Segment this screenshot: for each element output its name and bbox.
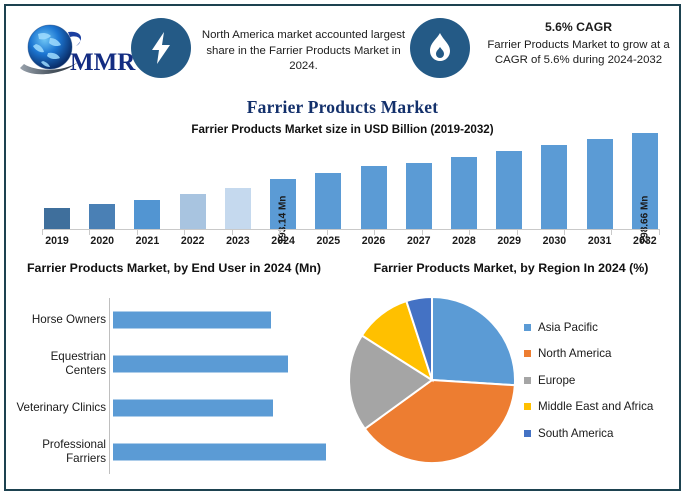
end-user-bar-professional-farriers [113,444,326,461]
end-user-track [112,298,336,342]
x-label-2031: 2031 [585,235,615,247]
market-size-chart: Farrier Products Market Farrier Products… [6,92,679,256]
bar-2029 [496,151,522,229]
bar-group-2019 [42,208,72,229]
x-label-2023: 2023 [223,235,253,247]
bar-group-2028 [449,157,479,229]
bar-group-2030 [539,145,569,229]
x-label-2021: 2021 [132,235,162,247]
page-title: Farrier Products Market [6,97,679,118]
logo-text: MMR [70,49,136,76]
header-bar: MMR North America market accounted large… [6,6,679,92]
legend-label: Asia Pacific [538,321,598,334]
legend-label: South America [538,427,613,440]
legend-swatch-icon [524,350,531,357]
x-label-2032: 2032 [630,235,660,247]
end-user-chart-title: Farrier Products Market, by End User in … [12,260,336,276]
bar-2031 [587,139,613,229]
flame-icon [410,18,470,78]
end-user-row: Equestrian Centers [16,342,336,386]
cagr-description: Farrier Products Market to grow at a CAG… [487,39,669,67]
bar-2022 [180,194,206,229]
end-user-label-equestrian-centers: Equestrian Centers [16,350,112,378]
bar-group-2023 [223,188,253,229]
chart-subtitle: Farrier Products Market size in USD Bill… [6,123,679,136]
legend-label: Europe [538,374,575,387]
bar-2026 [361,166,387,229]
end-user-row: Horse Owners [16,298,336,342]
bar-group-2024: 193.14 Mn [268,179,298,229]
end-user-track [112,342,336,386]
bar-group-2020 [87,204,117,229]
end-user-label-veterinary-clinics: Veterinary Clinics [16,401,112,415]
x-label-2026: 2026 [359,235,389,247]
legend-item-north-america: North America [524,341,676,368]
x-label-2024: 2024 [268,235,298,247]
x-label-2022: 2022 [178,235,208,247]
region-panel: Farrier Products Market, by Region In 20… [342,256,679,489]
bar-group-2022 [178,194,208,229]
end-user-bar-veterinary-clinics [113,400,273,417]
bar-2032: 298.66 Mn [632,133,658,229]
end-user-row: Professional Farriers [16,430,336,474]
mmr-logo-graphic: MMR [16,20,136,82]
bar-2028 [451,157,477,229]
legend-label: Middle East and Africa [538,400,653,413]
legend-item-europe: Europe [524,367,676,394]
bar-group-2032: 298.66 Mn [630,133,660,229]
region-pie-chart [348,296,516,464]
header-note-cagr: 5.6% CAGR Farrier Products Market to gro… [476,20,681,69]
bar-2025 [315,173,341,229]
bar-2023 [225,188,251,229]
legend-swatch-icon [524,377,531,384]
bottom-panels: Farrier Products Market, by End User in … [6,256,679,489]
end-user-track [112,386,336,430]
lightning-bolt-icon [131,18,191,78]
legend-swatch-icon [524,403,531,410]
region-chart-title: Farrier Products Market, by Region In 20… [346,260,676,276]
pie-svg [348,296,516,464]
end-user-label-horse-owners: Horse Owners [16,313,112,327]
end-user-label-professional-farriers: Professional Farriers [16,438,112,466]
pie-legend: Asia PacificNorth AmericaEuropeMiddle Ea… [524,314,676,447]
bar-2021 [134,200,160,229]
header-note-north-america: North America market accounted largest s… [196,28,411,75]
bar-2024: 193.14 Mn [270,179,296,229]
x-label-2025: 2025 [313,235,343,247]
pie-slice-asia-pacific [432,297,515,385]
bar-2030 [541,145,567,229]
end-user-bar-horse-owners [113,312,271,329]
x-label-2020: 2020 [87,235,117,247]
legend-swatch-icon [524,324,531,331]
x-label-2029: 2029 [494,235,524,247]
x-axis-labels: 2019202020212022202320242025202620272028… [42,235,660,247]
x-label-2030: 2030 [539,235,569,247]
bar-2019 [44,208,70,229]
cagr-headline: 5.6% CAGR [476,20,681,36]
end-user-panel: Farrier Products Market, by End User in … [6,256,342,489]
flame-glyph [427,32,453,64]
x-label-2027: 2027 [404,235,434,247]
legend-item-asia-pacific: Asia Pacific [524,314,676,341]
bar-group-2031 [585,139,615,229]
bar-group-2021 [132,200,162,229]
bar-group-2027 [404,163,434,229]
end-user-bar-equestrian-centers [113,356,288,373]
bar-group-2026 [359,166,389,229]
legend-label: North America [538,347,611,360]
mmr-logo: MMR [16,20,136,82]
bar-series: 193.14 Mn298.66 Mn [42,142,660,229]
legend-swatch-icon [524,430,531,437]
legend-item-middle-east-and-africa: Middle East and Africa [524,394,676,421]
bar-group-2025 [313,173,343,229]
bar-group-2029 [494,151,524,229]
x-label-2028: 2028 [449,235,479,247]
header-note-text: North America market accounted largest s… [202,29,405,72]
bar-2020 [89,204,115,229]
end-user-plot-area: Horse OwnersEquestrian CentersVeterinary… [16,298,336,483]
x-label-2019: 2019 [42,235,72,247]
end-user-row: Veterinary Clinics [16,386,336,430]
legend-item-south-america: South America [524,420,676,447]
end-user-track [112,430,336,474]
infographic-frame: MMR North America market accounted large… [4,4,681,491]
lightning-bolt-glyph [146,31,176,65]
bar-2027 [406,163,432,229]
bar-plot-area: 193.14 Mn298.66 Mn [42,142,660,229]
